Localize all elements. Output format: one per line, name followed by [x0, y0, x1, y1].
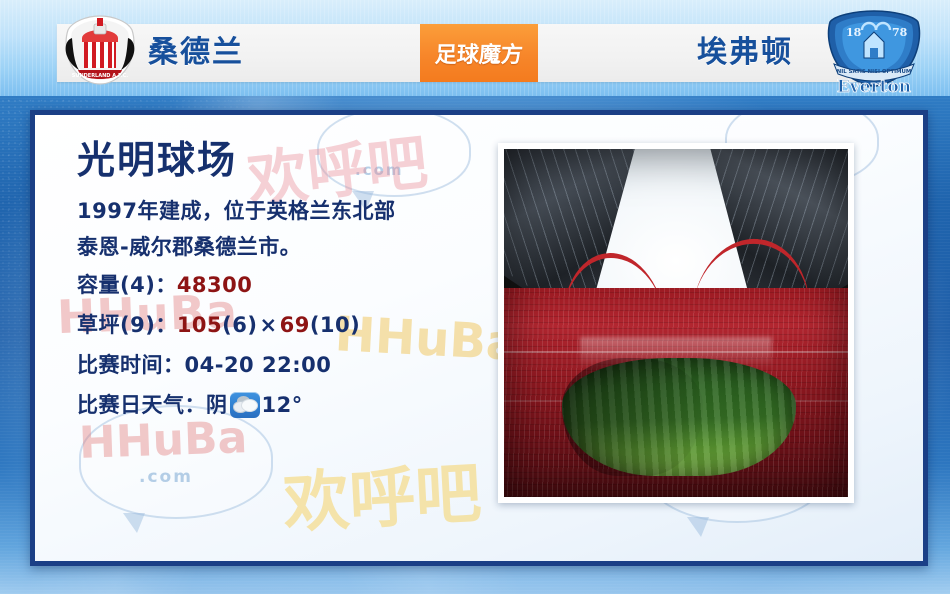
watermark-domain: .com [139, 467, 193, 487]
svg-text:Everton: Everton [837, 77, 911, 94]
site-logo-text: 足球魔方 [434, 37, 524, 69]
screenshot-root: SUNDERLAND A.F.C. 桑德兰 足球魔方 埃弗顿 18 78 NIL… [0, 0, 950, 594]
match-time-separator: ： [163, 353, 185, 377]
pitch-width-value: 69 [280, 313, 310, 337]
stadium-interior-photo [504, 149, 848, 497]
pitch-separator: ： [155, 313, 177, 337]
capacity-separator: ： [155, 273, 177, 297]
weather-label: 比赛日天气 [77, 393, 185, 417]
weather-separator: ： [185, 393, 207, 417]
stadium-title: 光明球场 [77, 137, 497, 183]
everton-crest-icon: 18 78 NIL SATIS NISI OPTIMUM Everton [818, 8, 930, 94]
capacity-value: 48300 [177, 273, 253, 297]
watermark-brand-cn: 欢呼吧 [281, 440, 484, 546]
cloudy-icon [230, 392, 260, 418]
everton-year-left: 18 [846, 26, 862, 39]
everton-year-right: 78 [892, 26, 908, 39]
pitch-size-multiply-sign: × [257, 313, 279, 337]
stadium-description-line-2: 泰恩-威尔郡桑德兰市。 [77, 229, 497, 265]
match-time-label: 比赛时间 [77, 353, 163, 377]
svg-text:NIL SATIS NISI OPTIMUM: NIL SATIS NISI OPTIMUM [837, 69, 912, 75]
site-logo[interactable]: 足球魔方 [420, 24, 538, 82]
sunderland-crest-icon: SUNDERLAND A.F.C. [48, 12, 152, 88]
away-team-name: 埃弗顿 [697, 24, 793, 82]
pitch-size-row: 草坪(9)：105(6)×69(10) [77, 305, 497, 345]
match-header: SUNDERLAND A.F.C. 桑德兰 足球魔方 埃弗顿 18 78 NIL… [0, 0, 950, 96]
weather-temperature: 12° [262, 393, 303, 417]
stadium-info-block: 光明球场 1997年建成，位于英格兰东北部 泰恩-威尔郡桑德兰市。 容量(4)：… [77, 137, 497, 425]
pitch-label: 草坪(9) [77, 313, 155, 337]
pitch-length-value: 105 [177, 313, 222, 337]
match-time-row: 比赛时间：04-20 22:00 [77, 345, 497, 385]
weather-condition: 阴 [206, 393, 228, 417]
home-team-name: 桑德兰 [148, 24, 244, 82]
pitch-width-rank: (10) [310, 313, 360, 337]
photo-vignette [504, 149, 848, 497]
stadium-description-line-1: 1997年建成，位于英格兰东北部 [77, 193, 497, 229]
capacity-label: 容量(4) [77, 273, 155, 297]
pitch-length-rank: (6) [222, 313, 257, 337]
match-weather-row: 比赛日天气：阴12° [77, 385, 497, 425]
svg-text:SUNDERLAND A.F.C.: SUNDERLAND A.F.C. [72, 73, 129, 79]
stadium-photo-frame [498, 143, 854, 503]
stadium-info-card: .com .com .com HHuBa HHuBa HHuBa HHuBa 欢… [30, 110, 928, 566]
capacity-row: 容量(4)：48300 [77, 265, 497, 305]
match-time-value: 04-20 22:00 [185, 353, 332, 377]
